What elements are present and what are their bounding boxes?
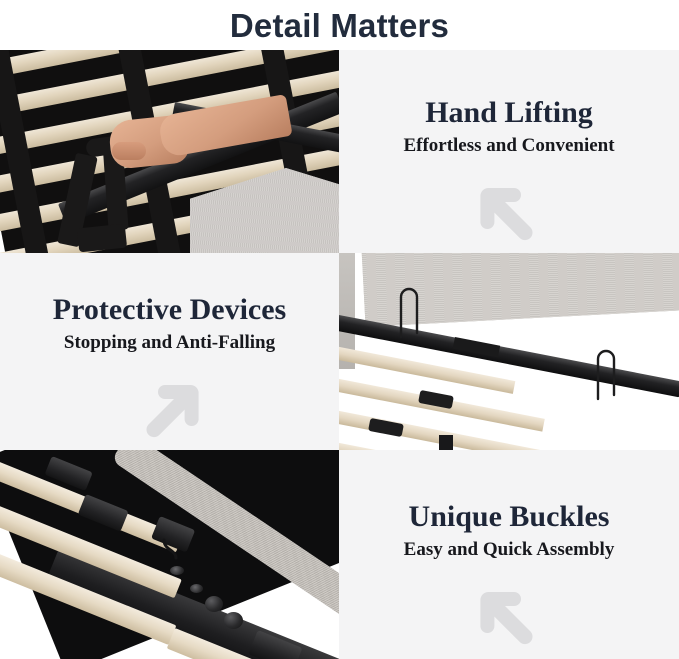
- arrow-up-left-icon: [473, 173, 545, 245]
- feature-grid: Hand Lifting Effortless and Convenient P…: [0, 50, 679, 659]
- bolt-hole: [170, 566, 184, 575]
- page-header: Detail Matters: [0, 0, 679, 50]
- feature-hand-lifting: Hand Lifting Effortless and Convenient: [339, 50, 679, 253]
- feature-subline: Effortless and Convenient: [403, 135, 614, 158]
- support-leg: [439, 435, 453, 450]
- feature-protective-devices: Protective Devices Stopping and Anti-Fal…: [0, 253, 339, 450]
- buckle-hook: [160, 538, 184, 560]
- feature-headline: Unique Buckles: [409, 500, 610, 534]
- bolt: [224, 612, 243, 629]
- photo-protective-devices: [339, 253, 679, 450]
- page-title: Detail Matters: [230, 9, 449, 42]
- feature-subline: Stopping and Anti-Falling: [64, 332, 275, 355]
- feature-headline: Protective Devices: [53, 293, 286, 327]
- fingers: [112, 142, 146, 160]
- arrow-up-right-icon: [134, 370, 206, 442]
- slat-clip: [368, 418, 404, 437]
- bolt: [205, 596, 223, 612]
- feature-unique-buckles: Unique Buckles Easy and Quick Assembly: [339, 450, 679, 659]
- arrow-up-left-icon: [473, 577, 545, 649]
- photo-hand-lifting: [0, 50, 339, 253]
- wire-buckle-left: [395, 283, 423, 344]
- feature-headline: Hand Lifting: [425, 96, 593, 130]
- photo-unique-buckles: [0, 450, 339, 659]
- strap-anchor: [77, 224, 127, 253]
- detail-matters-infographic: Detail Matters: [0, 0, 679, 659]
- feature-subline: Easy and Quick Assembly: [404, 539, 615, 562]
- bolt-hole: [190, 584, 203, 593]
- wire-buckle-right: [592, 345, 620, 406]
